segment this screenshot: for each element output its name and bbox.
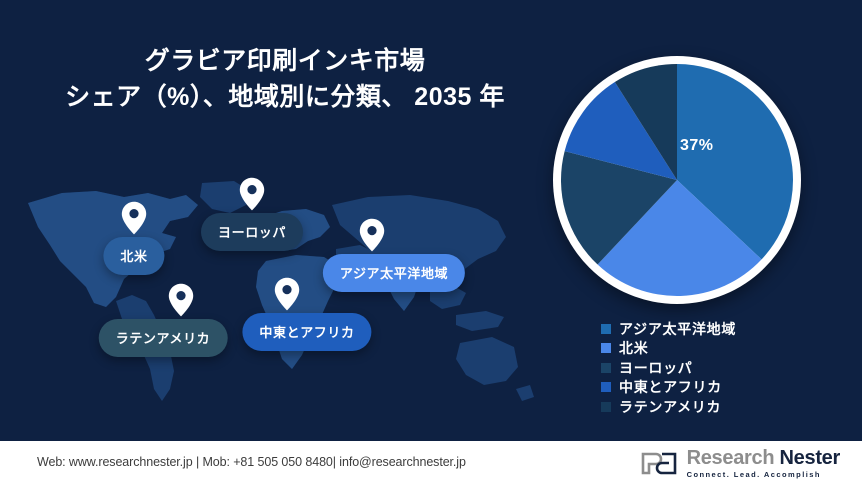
pie-slice-value-label: 37%	[680, 137, 714, 155]
location-pin-icon	[121, 201, 147, 235]
map-region-label[interactable]: ラテンアメリカ	[99, 319, 228, 357]
legend-item[interactable]: 中東とアフリカ	[601, 378, 841, 398]
map-region-label[interactable]: ヨーロッパ	[201, 213, 303, 251]
logo-text: Research Nester Connect. Lead. Accomplis…	[687, 448, 840, 479]
map-region-label[interactable]: 北米	[103, 237, 164, 275]
legend-color-swatch	[601, 382, 611, 392]
legend-item-label: ラテンアメリカ	[619, 397, 721, 417]
logo-word-research: Research	[687, 447, 775, 469]
legend-item-label: ヨーロッパ	[619, 358, 693, 378]
footer-contact-text: Web: www.researchnester.jp | Mob: +81 50…	[37, 455, 466, 469]
title-line-1: グラビア印刷インキ市場	[0, 44, 570, 80]
slide-canvas: グラビア印刷インキ市場 シェア（%）、地域別に分類、 2035 年	[0, 0, 862, 484]
location-pin-icon	[359, 218, 385, 252]
world-map: 北米ヨーロッパアジア太平洋地域中東とアフリカラテンアメリカ	[20, 175, 540, 425]
page-title: グラビア印刷インキ市場 シェア（%）、地域別に分類、 2035 年	[0, 44, 570, 115]
logo-word-nester: Nester	[780, 447, 840, 469]
legend-color-swatch	[601, 324, 611, 334]
logo-mark-icon	[640, 451, 678, 476]
legend-item[interactable]: ラテンアメリカ	[601, 397, 841, 417]
legend-color-swatch	[601, 402, 611, 412]
title-line-2: シェア（%）、地域別に分類、 2035 年	[0, 80, 570, 116]
location-pin-icon	[168, 283, 194, 317]
legend-item-label: 中東とアフリカ	[619, 377, 722, 397]
legend-item[interactable]: アジア太平洋地域	[601, 319, 841, 339]
research-nester-logo: Research Nester Connect. Lead. Accomplis…	[640, 447, 840, 479]
legend-item-label: アジア太平洋地域	[619, 319, 736, 339]
legend-item[interactable]: 北米	[601, 339, 841, 359]
footer-bar: Web: www.researchnester.jp | Mob: +81 50…	[0, 441, 862, 484]
logo-wordmark: Research Nester	[687, 448, 840, 468]
legend-item[interactable]: ヨーロッパ	[601, 358, 841, 378]
logo-tagline: Connect. Lead. Accomplish	[687, 471, 840, 479]
legend-color-swatch	[601, 363, 611, 373]
location-pin-icon	[274, 277, 300, 311]
location-pin-icon	[239, 177, 265, 211]
legend-color-swatch	[601, 343, 611, 353]
pie-slices	[553, 56, 801, 304]
pie-chart: 37%	[548, 51, 806, 309]
map-region-label[interactable]: アジア太平洋地域	[323, 254, 465, 292]
chart-legend: アジア太平洋地域北米ヨーロッパ中東とアフリカラテンアメリカ	[601, 319, 841, 417]
map-region-label[interactable]: 中東とアフリカ	[242, 313, 371, 351]
legend-item-label: 北米	[619, 338, 648, 358]
